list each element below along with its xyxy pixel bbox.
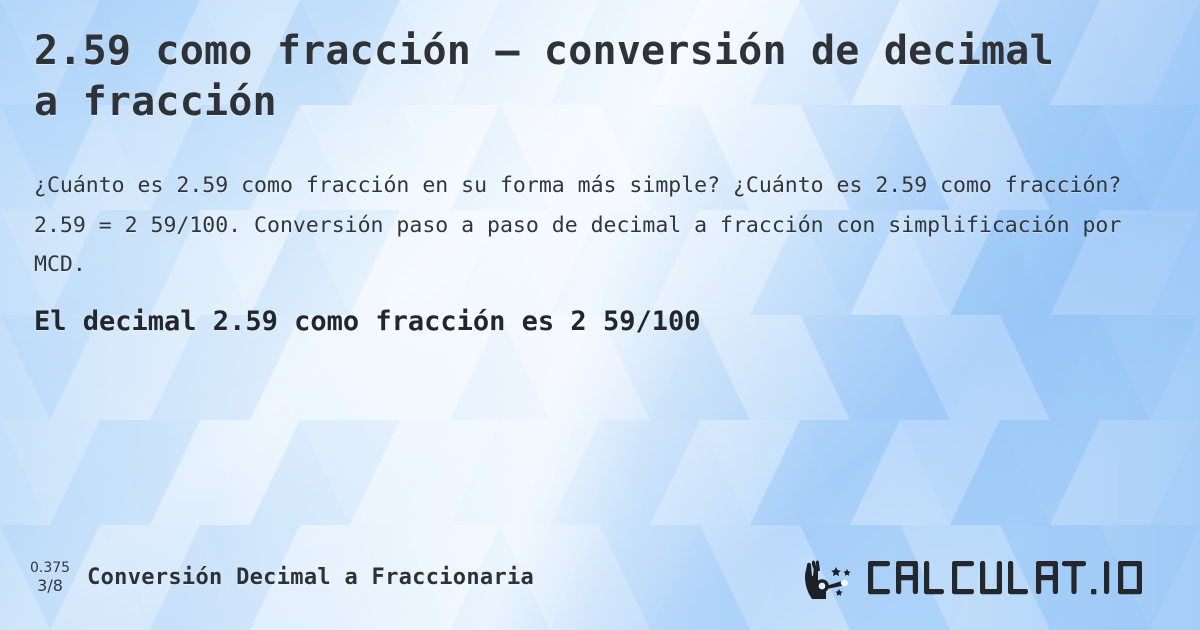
fraction-icon: 0.375 3/8 [30, 561, 70, 595]
footer-left-group: 0.375 3/8 Conversión Decimal a Fracciona… [30, 561, 534, 595]
card-content: 2.59 como fracción – conversión de decim… [0, 0, 1200, 630]
card-footer: 0.375 3/8 Conversión Decimal a Fracciona… [0, 552, 1200, 604]
brand-logo[interactable] [802, 556, 1176, 600]
hand-magic-wand-icon [802, 556, 860, 600]
og-card: 2.59 como fracción – conversión de decim… [0, 0, 1200, 630]
page-title: 2.59 como fracción – conversión de decim… [34, 26, 1074, 128]
brand-wordmark-glyphs [866, 558, 1176, 598]
fraction-icon-decimal: 0.375 [30, 561, 70, 577]
fraction-icon-fraction: 3/8 [37, 577, 63, 595]
page-description: ¿Cuánto es 2.59 como fracción en su form… [34, 166, 1152, 283]
site-name: Conversión Decimal a Fraccionaria [87, 565, 534, 590]
answer-statement: El decimal 2.59 como fracción es 2 59/10… [34, 304, 1166, 340]
brand-wordmark [866, 558, 1176, 598]
